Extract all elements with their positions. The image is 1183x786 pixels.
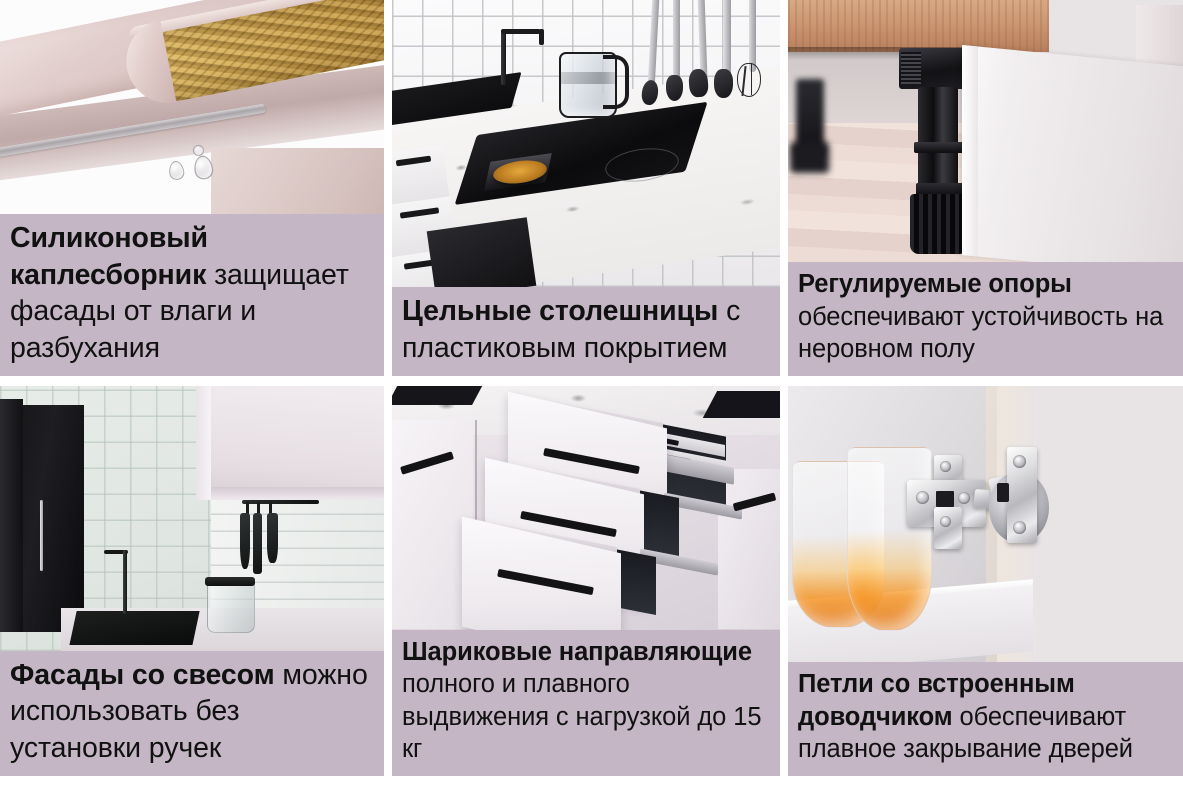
feature-card-ball-bearing-slides: Шариковые направляющие полного и плавног… — [388, 381, 784, 776]
hanging-utensil-icon — [267, 513, 278, 563]
faucet-spout — [539, 29, 544, 45]
open-drawers-ball-bearing-slides-photo — [392, 386, 780, 630]
kitchen-worktop-cooktop-photo — [392, 0, 780, 287]
card-caption: Цельные столешницы с пластиковым покрыти… — [392, 287, 780, 376]
water-droplet-icon — [193, 145, 204, 156]
feature-card-soft-close-hinges: Петли со встроенным доводчиком обеспечив… — [784, 381, 1183, 776]
feature-card-adjustable-legs: Регулируемые опоры обеспечивают устойчив… — [784, 0, 1183, 381]
feature-card-overhang-facades: Фасады со свесом можно использовать без … — [0, 381, 388, 776]
countertop-dark-cutout — [703, 391, 780, 418]
leg-bracket-ribs — [901, 52, 921, 83]
caption-bold-text: Регулируемые опоры — [798, 270, 1072, 298]
faucet-column — [123, 550, 127, 614]
soft-close-hinge-photo — [788, 386, 1183, 662]
glass-kettle — [207, 579, 255, 633]
leg-adjustment-collar — [914, 142, 963, 154]
kettle-handle — [603, 55, 629, 109]
black-sink — [69, 611, 199, 645]
caption-rest-text: полного и плавного выдвижения с нагрузко… — [402, 670, 761, 763]
adjustable-cabinet-leg-photo — [788, 0, 1183, 262]
caption-rest-text: обеспечивают устойчивость на неровном по… — [798, 303, 1163, 364]
cabinet-panel — [211, 148, 384, 214]
upper-cabinet-overhang — [200, 487, 384, 500]
plinth-edge — [962, 45, 978, 256]
tall-cabinet-side — [0, 399, 23, 632]
card-caption: Шариковые направляющие полного и плавног… — [392, 630, 780, 777]
caption-bold-text: Цельные столешницы — [402, 295, 718, 327]
spoon-head-icon — [688, 68, 709, 97]
utensil-rail — [242, 500, 319, 504]
utensil-handle — [673, 0, 680, 86]
feature-card-silicone-drip-catcher: Силиконовый каплесборник защищает фасады… — [0, 0, 388, 381]
whisk-wire — [751, 63, 753, 95]
caption-bold-text: Фасады со свесом — [10, 659, 275, 691]
leg-foot — [910, 194, 967, 254]
turner-head-icon — [714, 69, 733, 98]
countertop-edge-cross-section-photo — [0, 0, 384, 214]
caption-bold-text: Шариковые направляющие — [402, 638, 752, 666]
kitchen-corner-overhang-facade-photo — [0, 386, 384, 651]
spatula-head-icon — [666, 75, 683, 101]
upper-wall-cabinet — [200, 386, 384, 497]
kettle-lid — [205, 577, 255, 586]
cabinet-handle — [40, 500, 43, 571]
faucet-column — [501, 29, 506, 85]
hinge-screw-icon — [940, 461, 951, 472]
hanging-utensil-icon — [253, 513, 262, 574]
soft-close-damper — [997, 483, 1009, 502]
countertop-dark-cutout — [392, 386, 483, 405]
features-grid: Силиконовый каплесборник защищает фасады… — [0, 0, 1183, 786]
upper-cabinet-edge — [196, 386, 211, 500]
utensil-handle — [749, 0, 756, 72]
hinge-screw-icon — [940, 516, 951, 527]
hinge-mounting-plate-bottom — [934, 507, 962, 548]
drawer-front — [392, 145, 450, 205]
card-caption: Петли со встроенным доводчиком обеспечив… — [788, 662, 1183, 776]
card-caption: Регулируемые опоры обеспечивают устойчив… — [788, 262, 1183, 376]
white-plinth-panel — [962, 45, 1183, 263]
feature-card-solid-countertops: Цельные столешницы с пластиковым покрыти… — [388, 0, 784, 381]
card-caption: Фасады со свесом можно использовать без … — [0, 651, 384, 776]
background-leg-foot-blurred — [790, 142, 830, 173]
card-caption: Силиконовый каплесборник защищает фасады… — [0, 214, 384, 376]
drinking-glass — [847, 447, 932, 631]
hanging-utensil-icon — [240, 513, 250, 569]
caption-bold-text: Силиконовый каплесборник — [10, 222, 208, 290]
hinge-adjustment-slot — [936, 491, 954, 508]
faucet-arm — [501, 29, 541, 34]
cabinet-bottom-panel — [788, 0, 1049, 52]
